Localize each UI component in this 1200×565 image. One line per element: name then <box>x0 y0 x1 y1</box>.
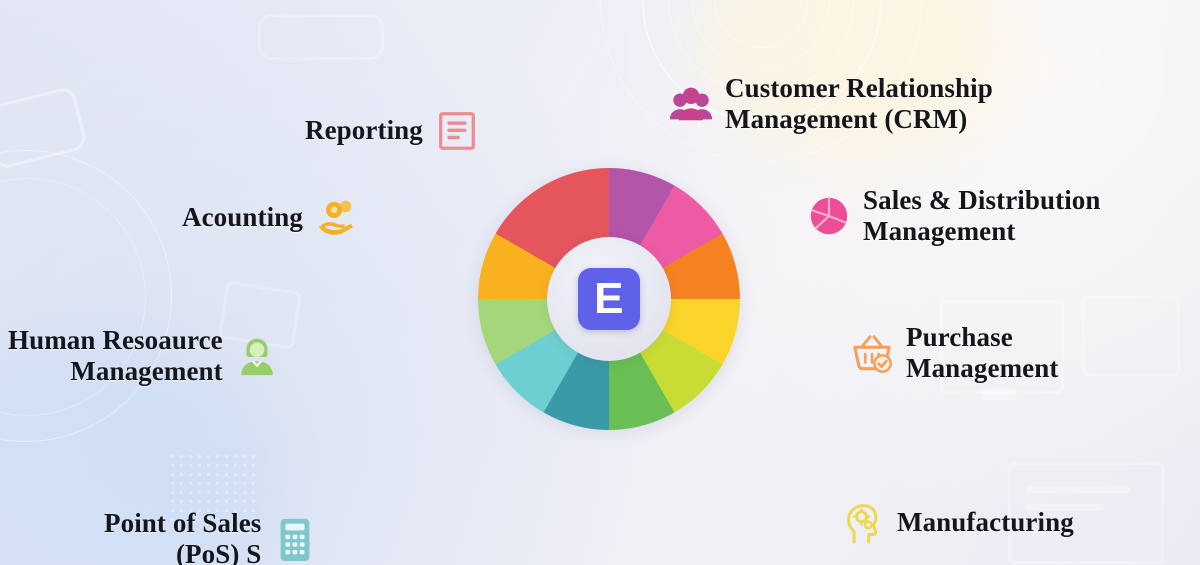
node-crm-label: Customer Relationship Management (CRM) <box>725 73 993 136</box>
person-icon <box>234 333 280 379</box>
node-sales-label: Sales & Distribution Management <box>863 185 1101 248</box>
bg-ring-4 <box>714 0 808 48</box>
node-human-resource-management[interactable]: Human Resoaurce Management <box>8 325 280 388</box>
bg-ring-3 <box>692 0 830 70</box>
node-accounting[interactable]: Acounting <box>182 195 360 241</box>
node-crm[interactable]: Customer Relationship Management (CRM) <box>668 73 993 136</box>
bg-ghost-monitor-stand <box>982 388 1016 400</box>
node-manufacturing-label: Manufacturing <box>897 507 1074 538</box>
bg-ghost-pill <box>258 14 384 60</box>
erp-logo-letter: E <box>594 277 624 321</box>
head-gears-icon <box>840 500 886 546</box>
node-sales-distribution[interactable]: Sales & Distribution Management <box>806 185 1101 248</box>
node-reporting[interactable]: Reporting <box>305 108 480 154</box>
bg-ghost-card-topleft <box>0 86 88 171</box>
node-hr-label: Human Resoaurce Management <box>8 325 223 388</box>
bg-ghost-line-1 <box>1026 486 1130 493</box>
people-group-icon <box>668 81 714 127</box>
node-reporting-label: Reporting <box>305 115 423 146</box>
document-lines-icon <box>434 108 480 154</box>
calculator-icon <box>272 516 318 562</box>
node-purchase-label: Purchase Management <box>906 322 1058 385</box>
bg-arc-left-1 <box>0 150 172 442</box>
shopping-basket-icon <box>849 330 895 376</box>
node-pos-label: Point of Sales (PoS) S <box>104 508 261 565</box>
erp-logo-tile: E <box>578 268 640 330</box>
money-hand-icon <box>314 195 360 241</box>
infographic-canvas: E Reporting Customer Relationship Manage… <box>0 0 1200 565</box>
node-manufacturing[interactable]: Manufacturing <box>840 500 1074 546</box>
wheel-center-hub: E <box>547 237 671 361</box>
pie-chart-icon <box>806 193 852 239</box>
bg-ghost-box-right <box>1082 296 1180 376</box>
erp-modules-wheel: E <box>478 168 740 430</box>
node-accounting-label: Acounting <box>182 202 303 233</box>
node-purchase-management[interactable]: Purchase Management <box>849 322 1058 385</box>
node-point-of-sales[interactable]: Point of Sales (PoS) S <box>104 508 318 565</box>
